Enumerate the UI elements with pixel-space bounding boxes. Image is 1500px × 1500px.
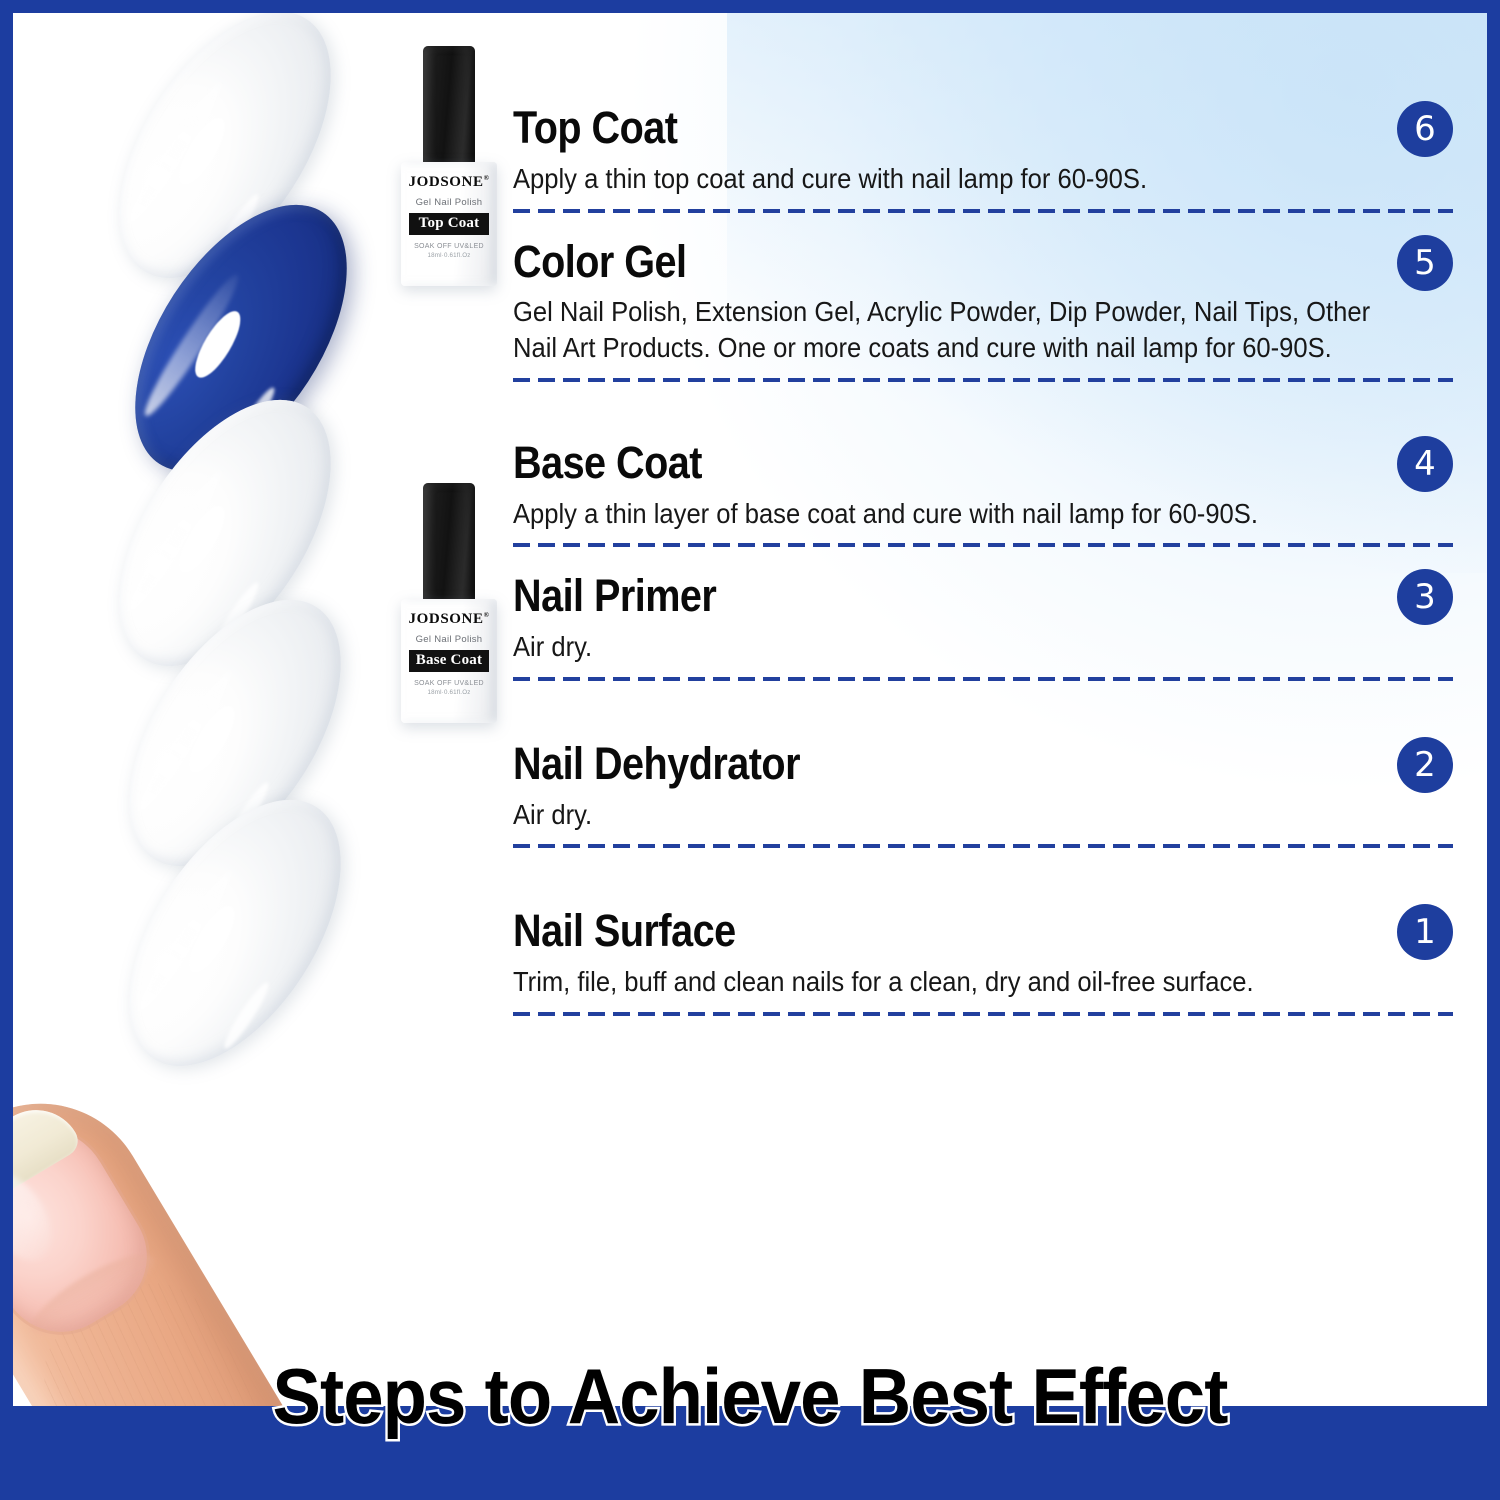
poster-frame: JODSONE® Gel Nail Polish Top Coat SOAK O… <box>0 0 1500 1500</box>
step-description: Apply a thin top coat and cure with nail… <box>513 161 1387 197</box>
step-item-nail-surface: 1 Nail Surface Trim, file, buff and clea… <box>513 908 1453 1016</box>
top-coat-bottle: JODSONE® Gel Nail Polish Top Coat SOAK O… <box>401 46 497 286</box>
bottle-brand-text: JODSONE <box>409 174 484 190</box>
step-description: Trim, file, buff and clean nails for a c… <box>513 964 1387 1000</box>
step-title: Nail Dehydrator <box>513 741 1340 788</box>
step-divider <box>513 844 1453 848</box>
step-title: Color Gel <box>513 239 1340 286</box>
step-divider <box>513 378 1453 382</box>
step-number-badge: 6 <box>1397 101 1453 157</box>
step-divider <box>513 677 1453 681</box>
step-number-badge: 5 <box>1397 235 1453 291</box>
step-item-base-coat: 4 Base Coat Apply a thin layer of base c… <box>513 440 1453 548</box>
step-number-badge: 1 <box>1397 904 1453 960</box>
registered-mark-icon: ® <box>484 611 490 619</box>
bottle-body: JODSONE® Gel Nail Polish Top Coat SOAK O… <box>401 162 497 286</box>
step-number-badge: 2 <box>1397 737 1453 793</box>
step-title: Nail Primer <box>513 573 1340 620</box>
bottle-body: JODSONE® Gel Nail Polish Base Coat SOAK … <box>401 599 497 723</box>
step-description: Apply a thin layer of base coat and cure… <box>513 496 1387 532</box>
registered-mark-icon: ® <box>484 174 490 182</box>
step-description: Gel Nail Polish, Extension Gel, Acrylic … <box>513 294 1387 366</box>
step-item-top-coat: 6 Top Coat Apply a thin top coat and cur… <box>513 105 1453 213</box>
bottle-fine-print: SOAK OFF UV&LED <box>401 243 497 250</box>
step-title: Base Coat <box>513 440 1340 487</box>
bottle-product-name: Top Coat <box>409 213 489 235</box>
step-item-nail-primer: 3 Nail Primer Air dry. <box>513 573 1453 681</box>
bottle-subtitle: Gel Nail Polish <box>401 634 497 645</box>
step-description: Air dry. <box>513 629 1387 665</box>
bottle-fine-print: SOAK OFF UV&LED <box>401 680 497 687</box>
step-divider <box>513 543 1453 547</box>
step-divider <box>513 209 1453 213</box>
step-item-nail-dehydrator: 2 Nail Dehydrator Air dry. <box>513 741 1453 849</box>
bottle-subtitle: Gel Nail Polish <box>401 197 497 208</box>
bottle-cap <box>423 483 475 603</box>
step-title: Top Coat <box>513 105 1340 152</box>
bottle-product-name: Base Coat <box>409 650 489 672</box>
step-number-badge: 3 <box>1397 569 1453 625</box>
step-description: Air dry. <box>513 797 1387 833</box>
step-number-badge: 4 <box>1397 436 1453 492</box>
bottle-brand-text: JODSONE <box>409 611 484 627</box>
bottle-volume: 18ml·0.61fl.Oz <box>401 252 497 259</box>
steps-list: 6 Top Coat Apply a thin top coat and cur… <box>513 105 1453 1016</box>
step-title: Nail Surface <box>513 908 1340 955</box>
bottle-cap <box>423 46 475 166</box>
banner-title: Steps to Achieve Best Effect <box>65 1357 1436 1435</box>
step-item-color-gel: 5 Color Gel Gel Nail Polish, Extension G… <box>513 239 1453 382</box>
base-coat-bottle: JODSONE® Gel Nail Polish Base Coat SOAK … <box>401 483 497 723</box>
bottle-brand: JODSONE® <box>401 612 497 627</box>
bottle-volume: 18ml·0.61fl.Oz <box>401 689 497 696</box>
poster-canvas: JODSONE® Gel Nail Polish Top Coat SOAK O… <box>13 13 1487 1487</box>
step-divider <box>513 1012 1453 1016</box>
bottle-brand: JODSONE® <box>401 175 497 190</box>
